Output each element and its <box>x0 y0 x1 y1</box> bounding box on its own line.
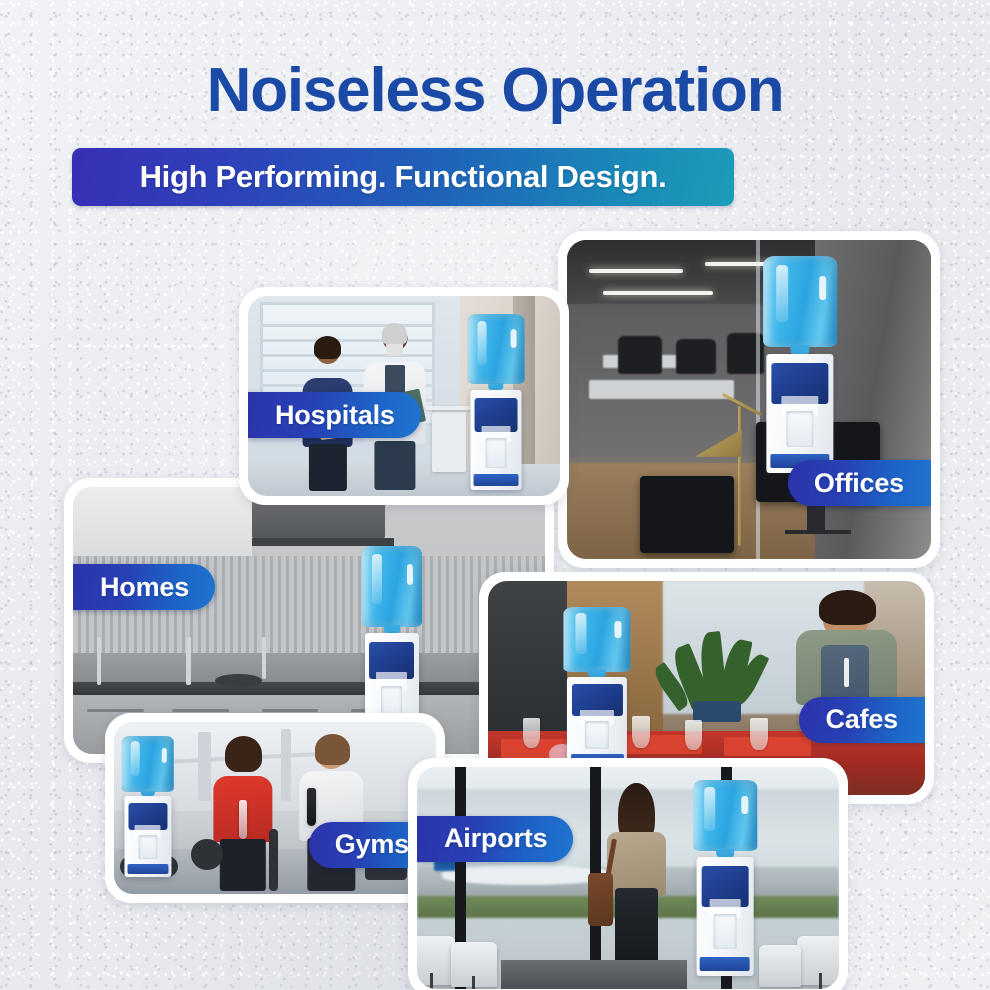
subtitle-banner: High Performing. Functional Design. <box>72 148 734 206</box>
badge-offices[interactable]: Offices <box>788 460 931 506</box>
water-dispenser <box>120 736 175 877</box>
water-bottle <box>564 607 631 672</box>
dispenser-body <box>471 390 522 490</box>
desk-lamp-arm <box>738 406 741 546</box>
water-dispenser <box>562 607 632 770</box>
kitchen-faucet-2 <box>186 637 191 685</box>
kitchen-rack <box>252 538 394 546</box>
water-dispenser <box>691 780 759 975</box>
dispenser-body <box>124 796 171 876</box>
water-bottle <box>468 314 525 384</box>
scene-gym <box>114 722 436 894</box>
photo-offices: Offices <box>567 240 931 559</box>
office-monitor-left <box>640 476 735 553</box>
badge-hospitals[interactable]: Hospitals <box>248 392 421 438</box>
airport-traveler <box>603 783 671 972</box>
traveler-bag <box>588 873 614 926</box>
dispenser-body <box>567 677 627 770</box>
badge-label-offices: Offices <box>814 468 904 499</box>
airport-seat-4 <box>759 945 801 987</box>
badge-label-gyms: Gyms <box>335 829 409 860</box>
airport-seat-3 <box>797 936 839 985</box>
dispenser-body <box>697 857 754 976</box>
water-bottle <box>362 546 422 627</box>
scene-office <box>567 240 931 559</box>
kitchen-faucet-3 <box>262 637 266 680</box>
kitchen-counter <box>73 682 517 695</box>
scene-airport <box>417 767 839 989</box>
airport-seat-1 <box>417 936 455 985</box>
kitchen-faucet-1 <box>97 637 101 685</box>
panel-gyms[interactable]: Gyms <box>105 713 445 903</box>
airport-ledge <box>501 960 687 989</box>
water-bottle <box>122 736 175 792</box>
badge-label-cafes: Cafes <box>825 704 898 735</box>
photo-hospitals: Hospitals <box>248 296 560 496</box>
hospital-cart <box>432 412 466 472</box>
badge-airports[interactable]: Airports <box>417 816 573 862</box>
dispenser-body <box>766 354 833 473</box>
badge-label-airports: Airports <box>444 823 547 854</box>
photo-gyms: Gyms <box>114 722 436 894</box>
page-title: Noiseless Operation <box>0 55 990 126</box>
gym-person-red <box>211 739 275 890</box>
kitchen-upper-cabinets <box>73 487 252 556</box>
airplane <box>442 865 611 885</box>
badge-label-hospitals: Hospitals <box>275 400 395 431</box>
water-dispenser <box>760 256 840 473</box>
badge-cafes[interactable]: Cafes <box>799 697 925 743</box>
water-dispenser <box>466 314 525 490</box>
subtitle-text: High Performing. Functional Design. <box>140 159 667 195</box>
panel-hospitals[interactable]: Hospitals <box>239 287 569 505</box>
water-bottle <box>763 256 837 347</box>
kitchen-sink-basin <box>215 674 262 687</box>
water-bottle <box>693 780 756 850</box>
photo-airports: Airports <box>417 767 839 989</box>
badge-label-homes: Homes <box>100 572 189 603</box>
panel-offices[interactable]: Offices <box>558 231 940 568</box>
badge-homes[interactable]: Homes <box>73 564 215 610</box>
panel-airports[interactable]: Airports <box>408 758 848 990</box>
